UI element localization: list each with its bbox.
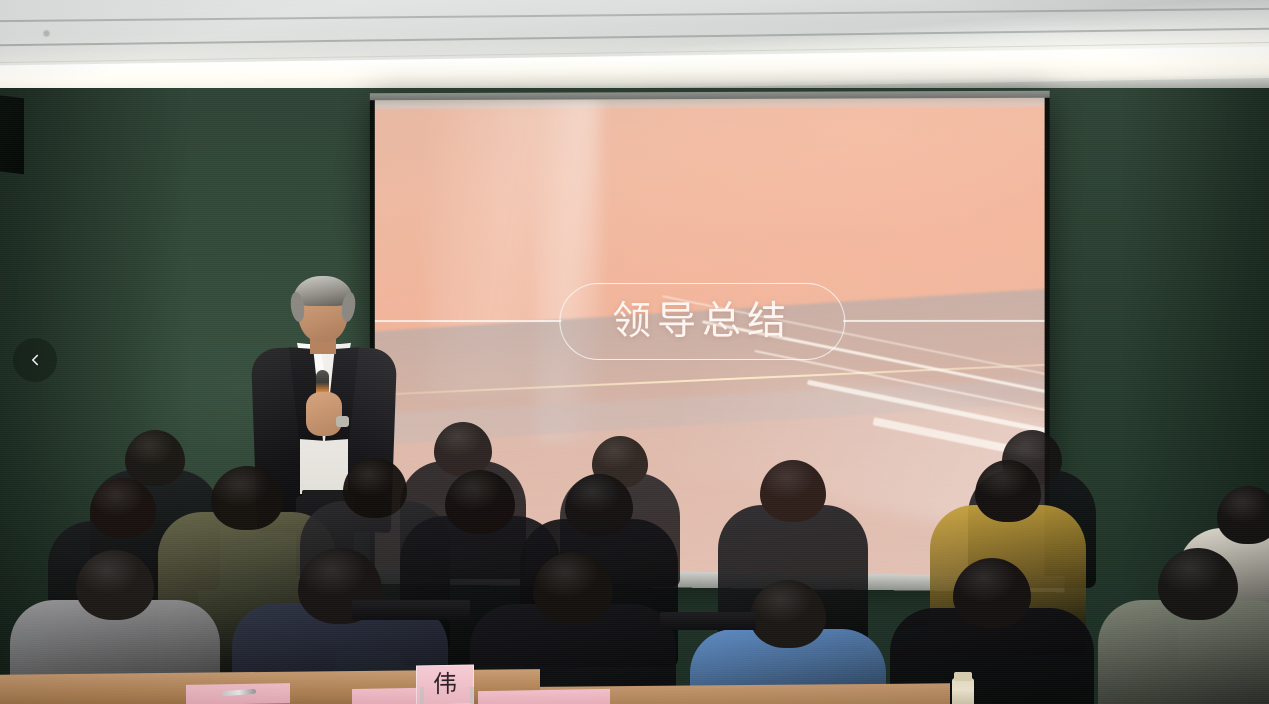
- audience-member-head: [760, 460, 826, 522]
- conference-room-scene: 领导总结: [0, 0, 1269, 704]
- audience-member-head: [975, 460, 1041, 522]
- audience-member-head: [445, 470, 515, 534]
- audience-member-head: [565, 474, 633, 536]
- ceiling-seam: [0, 8, 1269, 22]
- name-placard-text: 伟: [433, 673, 457, 697]
- audience-member-head: [90, 478, 156, 538]
- audience: [0, 430, 1269, 704]
- presenter-hands: [306, 392, 342, 436]
- slide-title-rule-right: [843, 320, 1044, 321]
- ceiling-fixture-dot: [44, 31, 49, 36]
- audience-member-head: [1217, 486, 1269, 544]
- audience-member-head: [76, 550, 154, 620]
- wall-speaker-box: [0, 94, 24, 175]
- audience-member-head: [953, 558, 1031, 628]
- presenter-wristwatch: [336, 416, 349, 427]
- ceiling: [0, 0, 1269, 92]
- laptop: [660, 612, 756, 630]
- placard-stand: [420, 687, 424, 704]
- water-bottle-cap: [954, 672, 972, 681]
- audience-member-head: [750, 580, 826, 648]
- audience-member-head: [1158, 548, 1238, 620]
- chevron-left-icon: [26, 351, 44, 369]
- paper-sheet: [478, 689, 610, 704]
- previous-image-button[interactable]: [13, 338, 57, 382]
- slide-title-rule-left: [375, 321, 562, 322]
- slide-title-text: 领导总结: [612, 302, 792, 341]
- placard-stand: [470, 687, 474, 704]
- laptop: [352, 600, 470, 620]
- slide-title-row: 领导总结: [375, 282, 1045, 359]
- name-placard: 伟: [416, 664, 474, 704]
- person-black-coat: [890, 558, 1094, 704]
- person-olive-jacket: [1098, 548, 1269, 704]
- ceiling-seam: [0, 28, 1269, 47]
- audience-member-head: [533, 552, 613, 624]
- audience-member-head: [211, 466, 283, 530]
- water-bottle: [952, 678, 974, 704]
- audience-member-head: [343, 458, 407, 518]
- slide-title-pill: 领导总结: [559, 283, 845, 360]
